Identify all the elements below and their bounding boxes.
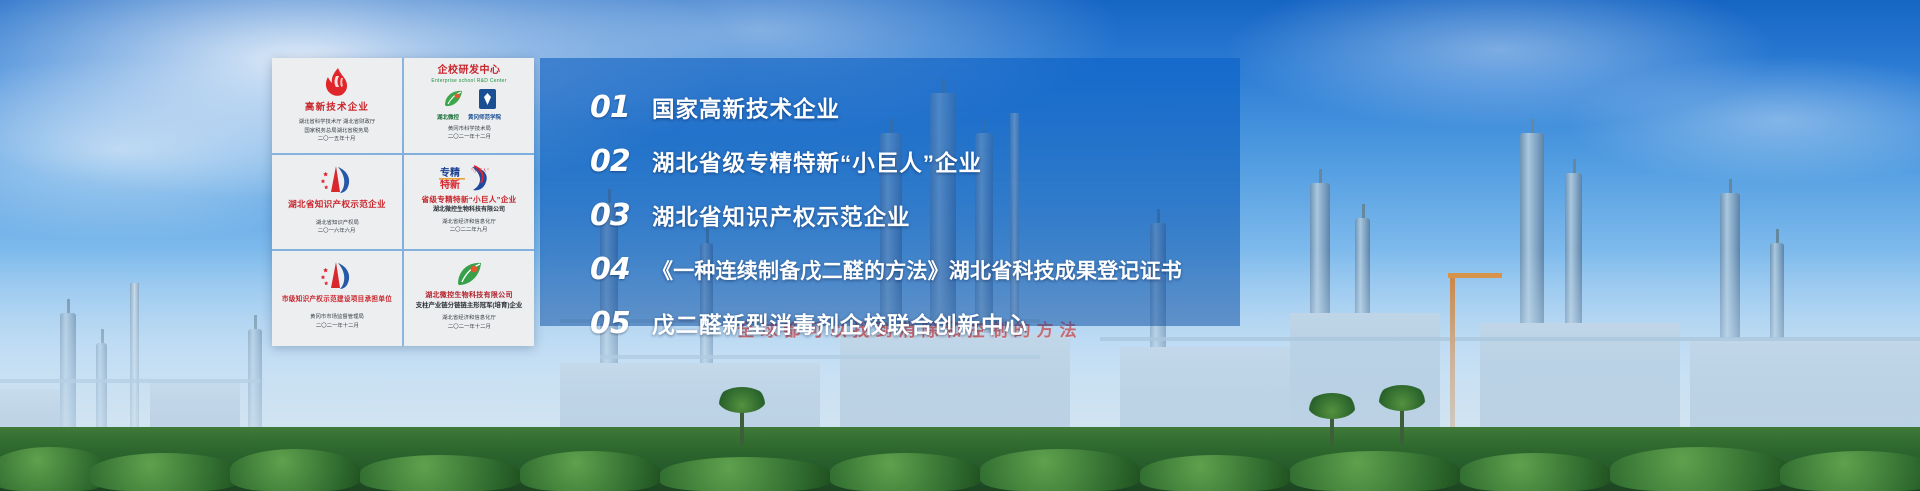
green-leaf-emblem-icon [454, 259, 484, 289]
certificate-date: 二〇一六年六月 [318, 227, 356, 235]
star-sail-emblem-icon [319, 259, 355, 293]
honor-item[interactable]: 05 戊二醛新型消毒剂企校联合创新中心 [590, 302, 1232, 346]
certificate-issuer-line1: 湖北省经济和信息化厅 [442, 314, 496, 322]
certificate-title: 湖北省知识产权示范企业 [288, 200, 386, 210]
zhuanjing-texin-emblem-icon: 专精 特新 "小巨人" [438, 163, 500, 193]
certificate-issuer-line1: 湖北省经济和信息化厅 [442, 218, 496, 226]
honor-number: 04 [590, 255, 652, 285]
certificate-date: 二〇二一年十二月 [448, 323, 491, 331]
honor-item[interactable]: 01 国家高新技术企业 [590, 86, 1232, 130]
certificate-issuer-line1: 湖北省科学技术厅 湖北省财政厅 [299, 118, 376, 126]
shrub [830, 453, 980, 491]
honor-item[interactable]: 03 湖北省知识产权示范企业 [590, 194, 1232, 238]
certificate-grid: 高新技术企业 湖北省科学技术厅 湖北省财政厅 国家税务总局湖北省税务局 二〇一五… [272, 58, 534, 346]
partner-name-left: 湖北微控 [437, 113, 459, 121]
banner-root: 全球都可以找到消除和控制的方法 高新技术企业 湖北省科学技术厅 湖北省财政厅 国… [0, 0, 1920, 491]
shrub [980, 449, 1140, 491]
certificate-card[interactable]: 专精 特新 "小巨人" 省级专精特新“小巨人”企业 湖北微控生物科技有限公司 湖… [404, 155, 534, 250]
honor-text: 国家高新技术企业 [652, 92, 840, 124]
certificate-title: 企校研发中心 [438, 65, 501, 77]
shrub [90, 453, 240, 491]
honor-text: 湖北省级专精特新“小巨人”企业 [652, 146, 982, 178]
certificate-date: 二〇一五年十月 [318, 135, 356, 143]
certificate-title: 省级专精特新“小巨人”企业 [421, 196, 516, 205]
shrub [1290, 451, 1460, 491]
certificate-company: 湖北微控生物科技有限公司 [433, 206, 505, 214]
certificate-card[interactable]: 湖北省知识产权示范企业 湖北省知识产权局 二〇一六年六月 [272, 155, 402, 250]
certificate-title: 市级知识产权示范建设项目承担单位 [282, 296, 392, 304]
honor-number: 01 [590, 93, 652, 123]
honor-number: 03 [590, 201, 652, 231]
certificate-date: 二〇二二年九月 [450, 226, 488, 234]
honor-number: 05 [590, 309, 652, 339]
certificate-card[interactable]: 市级知识产权示范建设项目承担单位 黄冈市市场监督管理局 二〇二一年十二月 [272, 251, 402, 346]
shrub [520, 451, 660, 491]
shrub [660, 457, 830, 491]
honor-number: 02 [590, 147, 652, 177]
honor-item[interactable]: 04 《一种连续制备戊二醛的方法》湖北省科技成果登记证书 [590, 248, 1232, 292]
shrub [1610, 447, 1790, 491]
certificate-card[interactable]: 高新技术企业 湖北省科学技术厅 湖北省财政厅 国家税务总局湖北省税务局 二〇一五… [272, 58, 402, 153]
certificate-title: 高新技术企业 [305, 103, 369, 114]
partner-name-right: 黄冈师范学院 [468, 113, 501, 121]
shrub [230, 449, 360, 491]
certificate-date: 二〇二一年十二月 [448, 133, 491, 141]
svg-text:专精: 专精 [440, 166, 460, 179]
palm-tree [1330, 407, 1334, 445]
honors-list: 01 国家高新技术企业 02 湖北省级专精特新“小巨人”企业 03 湖北省知识产… [590, 86, 1232, 356]
palm-tree [1400, 399, 1404, 445]
shrub [360, 455, 520, 491]
certificate-title-en: Enterprise school R&D Center [431, 78, 506, 84]
palm-tree [740, 401, 744, 445]
honor-text: 湖北省知识产权示范企业 [652, 200, 911, 232]
honor-item[interactable]: 02 湖北省级专精特新“小巨人”企业 [590, 140, 1232, 184]
certificate-subtitle: 支柱产业链分链链主形冠军(培育)企业 [416, 302, 523, 311]
certificate-date: 二〇二一年十二月 [316, 322, 359, 330]
honor-text: 戊二醛新型消毒剂企校联合创新中心 [652, 308, 1028, 340]
certificate-issuer-line2: 国家税务总局湖北省税务局 [305, 127, 369, 135]
certificate-title: 湖北微控生物科技有限公司 [425, 292, 513, 300]
certificate-issuer-line1: 黄冈市科学技术局 [448, 125, 491, 133]
shrub [1780, 451, 1920, 491]
certificate-issuer-line1: 黄冈市市场监督管理局 [310, 313, 364, 321]
svg-text:"小巨人": "小巨人" [471, 167, 489, 174]
university-crest-icon [478, 88, 497, 110]
partner-logos [442, 86, 497, 112]
shrub [1460, 453, 1610, 491]
green-leaf-emblem-icon [442, 88, 464, 110]
flame-emblem-icon [322, 66, 352, 100]
certificate-issuer-line1: 湖北省知识产权局 [316, 219, 359, 227]
svg-text:特新: 特新 [440, 178, 460, 191]
honors-panel: 01 国家高新技术企业 02 湖北省级专精特新“小巨人”企业 03 湖北省知识产… [540, 58, 1240, 326]
certificate-card[interactable]: 企校研发中心 Enterprise school R&D Center 湖北微控… [404, 58, 534, 153]
shrub [1140, 455, 1290, 491]
honor-text: 《一种连续制备戊二醛的方法》湖北省科技成果登记证书 [652, 255, 1182, 285]
certificate-card[interactable]: 湖北微控生物科技有限公司 支柱产业链分链链主形冠军(培育)企业 湖北省经济和信息… [404, 251, 534, 346]
star-sail-emblem-icon [319, 163, 355, 197]
